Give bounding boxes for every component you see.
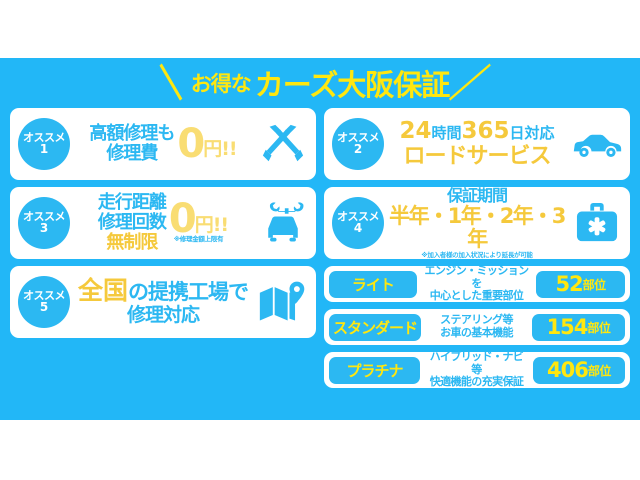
feature-card-1: オススメ 1 高額修理も 修理費 0 円!!: [10, 108, 316, 180]
plan-count-unit: 部位: [588, 362, 611, 379]
feature-grid: オススメ 1 高額修理も 修理費 0 円!!: [10, 108, 630, 388]
badge-number: 1: [40, 143, 48, 156]
recommend-badge-3: オススメ 3: [18, 197, 70, 249]
car-wrench-icon: [256, 199, 310, 247]
card-5-highlight: 全国: [78, 277, 128, 305]
card-2-hours: 24: [399, 119, 431, 145]
title-main: カーズ大阪保証: [255, 62, 450, 104]
title-slash-right: ／: [448, 64, 492, 102]
card-1-line2: 修理費: [106, 144, 157, 164]
plan-count-value: 406: [547, 358, 588, 382]
card-2-body: 24 時間 365 日対応 ロードサービス: [384, 119, 570, 169]
plan-count-pill: 406部位: [533, 357, 625, 384]
plan-desc-line2: 中心とした重要部位: [422, 290, 531, 303]
page-title: ＼ お得な カーズ大阪保証 ／: [10, 58, 630, 108]
feature-card-3: オススメ 3 走行距離 修理回数 無制限 0 円!!: [10, 187, 316, 259]
badge-number: 3: [40, 222, 48, 235]
plan-name-pill: ライト: [329, 271, 417, 298]
card-3-unit: 円!!: [195, 215, 228, 236]
recommend-badge-1: オススメ 1: [18, 118, 70, 170]
card-2-line2: ロードサービス: [403, 145, 550, 170]
recommend-badge-5: オススメ 5: [18, 276, 70, 328]
card-1-line1: 高額修理も: [89, 124, 174, 144]
badge-number: 2: [354, 143, 362, 156]
plan-row-standard[interactable]: スタンダード ステアリング等 お車の基本機能 154部位: [324, 309, 630, 345]
map-pin-icon: [256, 279, 310, 325]
plan-count-pill: 154部位: [532, 314, 625, 341]
plan-count-value: 52: [555, 272, 582, 296]
card-5-line1-rest: の提携工場で: [128, 281, 248, 305]
card-3-line3: 無制限: [106, 233, 157, 253]
plan-count-value: 154: [547, 315, 588, 339]
plan-name-pill: プラチナ: [329, 357, 420, 384]
card-1-body: 高額修理も 修理費 0 円!!: [70, 124, 256, 164]
plan-row-light[interactable]: ライト エンジン・ミッションを 中心とした重要部位 52部位: [324, 266, 630, 302]
plan-count-unit: 部位: [587, 319, 610, 336]
card-2-hours-unit: 時間: [431, 125, 461, 142]
plan-description: ハイブリッド・ナビ等 快適機能の充実保証: [425, 351, 528, 389]
plan-count-pill: 52部位: [536, 271, 625, 298]
feature-card-2: オススメ 2 24 時間 365 日対応 ロードサービス: [324, 108, 630, 180]
plan-count-unit: 部位: [583, 276, 606, 293]
card-4-line1: 保証期間: [447, 187, 507, 205]
plan-description: エンジン・ミッションを 中心とした重要部位: [422, 265, 531, 303]
right-column: オススメ 2 24 時間 365 日対応 ロードサービス: [324, 108, 630, 388]
card-3-amount: 0: [169, 202, 195, 236]
plan-desc-line1: エンジン・ミッションを: [422, 265, 531, 290]
plan-row-platinum[interactable]: プラチナ ハイブリッド・ナビ等 快適機能の充実保証 406部位: [324, 352, 630, 388]
feature-card-4: オススメ 4 保証期間 半年・1年・2年・3年 ※加入者様の加入状況により延長が…: [324, 187, 630, 259]
title-prefix: お得な: [191, 68, 251, 98]
recommend-badge-2: オススメ 2: [332, 118, 384, 170]
card-1-amount: 0: [177, 127, 203, 161]
card-5-body: 全国 の提携工場で 修理対応: [70, 277, 256, 326]
car-icon: [570, 128, 624, 160]
title-slash-left: ＼: [148, 64, 192, 102]
crossed-hammers-icon: [256, 121, 310, 167]
badge-number: 5: [40, 301, 48, 314]
warranty-poster: ＼ お得な カーズ大阪保証 ／ オススメ 1 高額修理も 修理費: [0, 58, 640, 420]
plan-desc-line2: 快適機能の充実保証: [425, 376, 528, 389]
plan-name-pill: スタンダード: [329, 314, 421, 341]
card-5-line2: 修理対応: [127, 305, 199, 326]
plan-description: ステアリング等 お車の基本機能: [426, 314, 527, 339]
left-column: オススメ 1 高額修理も 修理費 0 円!!: [10, 108, 316, 388]
card-4-note: ※加入者様の加入状況により延長が可能: [421, 252, 532, 259]
card-3-line1: 走行距離: [98, 193, 166, 213]
plan-desc-line1: ハイブリッド・ナビ等: [425, 351, 528, 376]
card-3-line2: 修理回数: [98, 213, 166, 233]
medical-case-icon: [570, 202, 624, 244]
card-3-body: 走行距離 修理回数 無制限 0 円!! ※修理金額上限有: [70, 193, 256, 253]
plan-desc-line2: お車の基本機能: [426, 327, 527, 340]
feature-card-5: オススメ 5 全国 の提携工場で 修理対応: [10, 266, 316, 338]
card-3-note: ※修理金額上限有: [174, 236, 223, 243]
card-4-body: 保証期間 半年・1年・2年・3年 ※加入者様の加入状況により延長が可能: [384, 187, 570, 259]
card-2-days: 365: [462, 119, 510, 145]
badge-number: 4: [354, 222, 362, 235]
card-2-days-unit: 日対応: [510, 125, 555, 142]
recommend-badge-4: オススメ 4: [332, 197, 384, 249]
card-1-unit: 円!!: [203, 134, 236, 161]
card-4-line2: 半年・1年・2年・3年: [386, 205, 568, 252]
